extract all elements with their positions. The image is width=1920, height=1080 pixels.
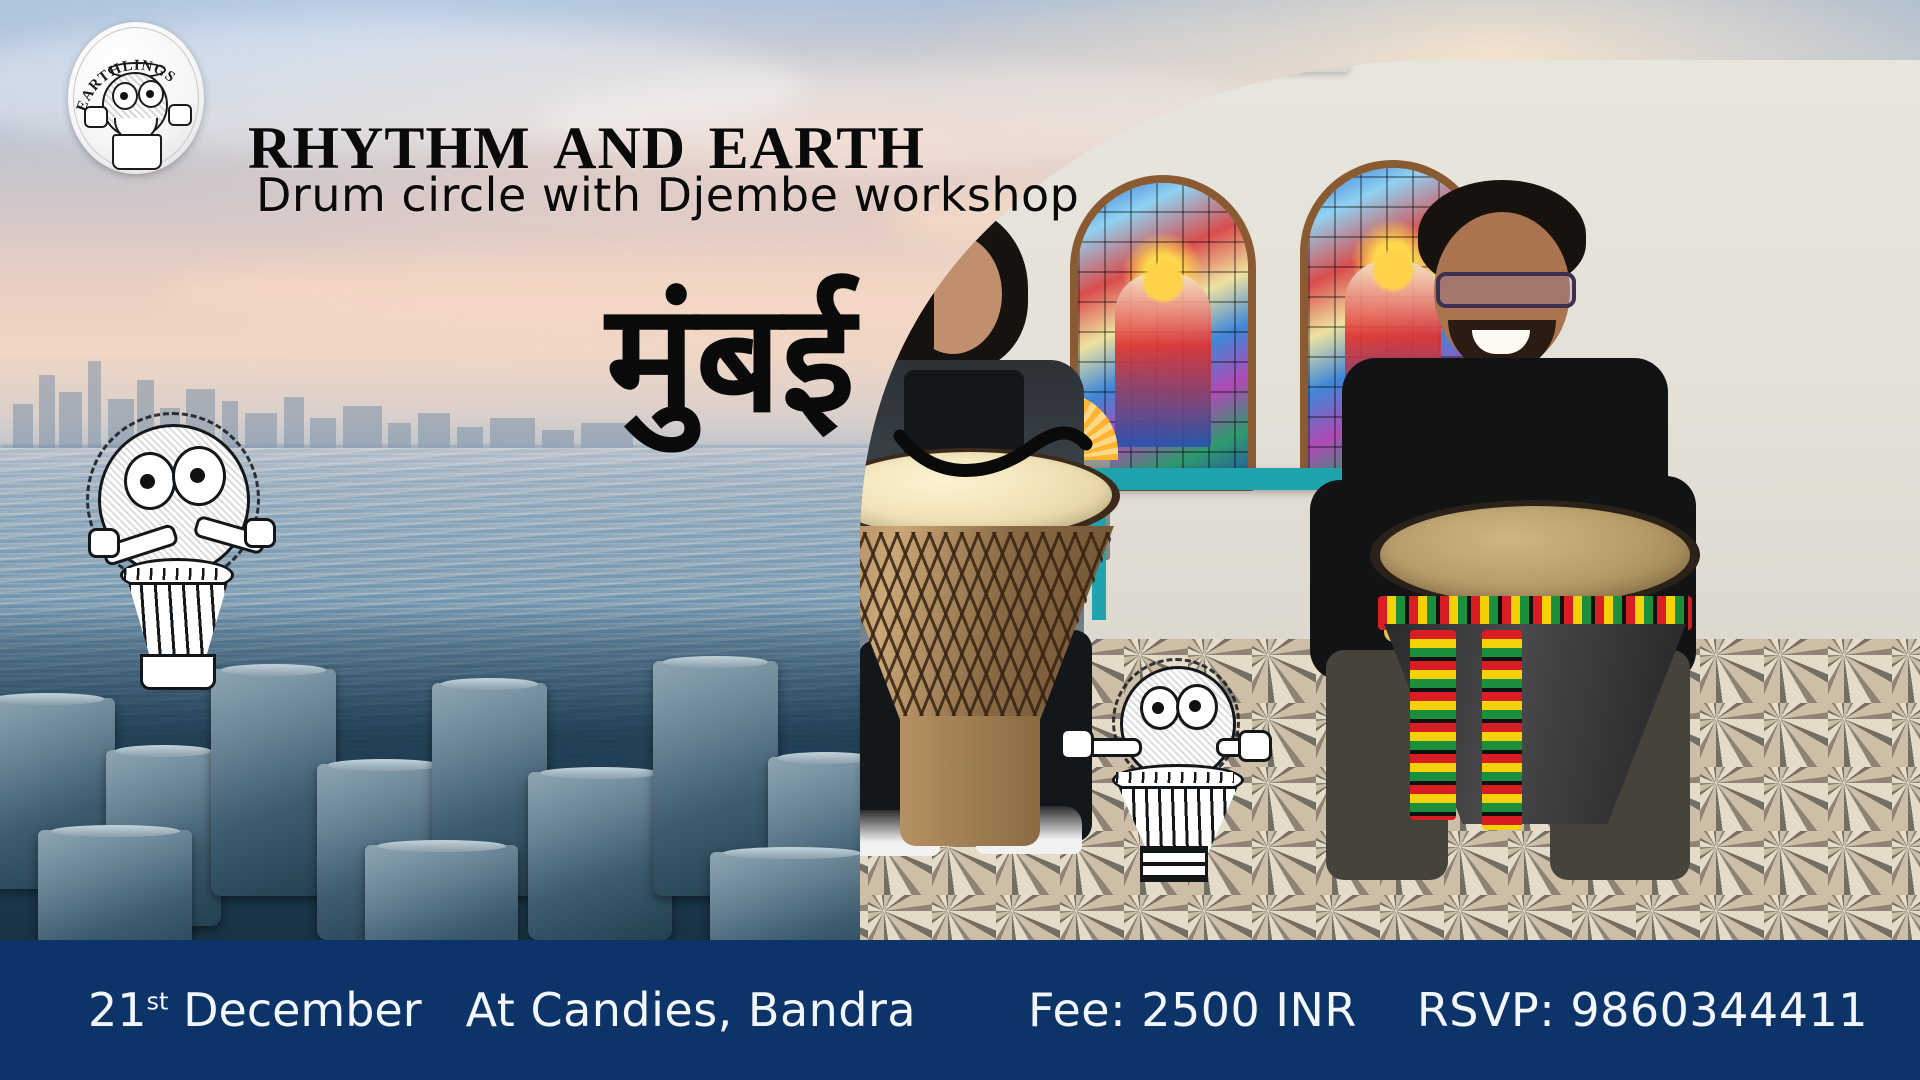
logo-drum-icon	[112, 134, 162, 170]
logo-hand-left	[84, 106, 108, 128]
event-date: 21st December	[88, 983, 422, 1037]
page-subtitle: Drum circle with Djembe workshop	[256, 172, 1156, 218]
event-fee: Fee: 2500 INR	[1028, 983, 1357, 1037]
logo-eye-right	[138, 80, 164, 108]
eyeglasses	[1436, 272, 1576, 308]
poster-canvas: EARTHLINGS Rhythm and Earth Drum circle …	[0, 0, 1920, 1080]
event-date-day: 21	[88, 983, 147, 1037]
city-script-text: मुंबई	[603, 272, 860, 453]
event-details-banner: 21st December At Candies, Bandra Fee: 25…	[0, 940, 1920, 1080]
djembe-drum-right	[1370, 500, 1700, 900]
event-rsvp[interactable]: RSVP: 9860344411	[1417, 983, 1868, 1037]
city-script-mumbai: मुंबई	[600, 240, 1120, 490]
earth-mascot-drummer-left	[84, 408, 274, 688]
logo-hand-right	[168, 104, 192, 126]
event-venue: At Candies, Bandra	[466, 983, 916, 1037]
earthlings-logo[interactable]: EARTHLINGS	[68, 22, 204, 174]
logo-eye-left	[112, 82, 138, 110]
event-date-ordinal: st	[147, 988, 169, 1016]
earth-mascot-drummer-right	[1056, 652, 1266, 872]
calligraphy-flourish	[900, 433, 1086, 471]
event-date-month: December	[183, 983, 422, 1037]
